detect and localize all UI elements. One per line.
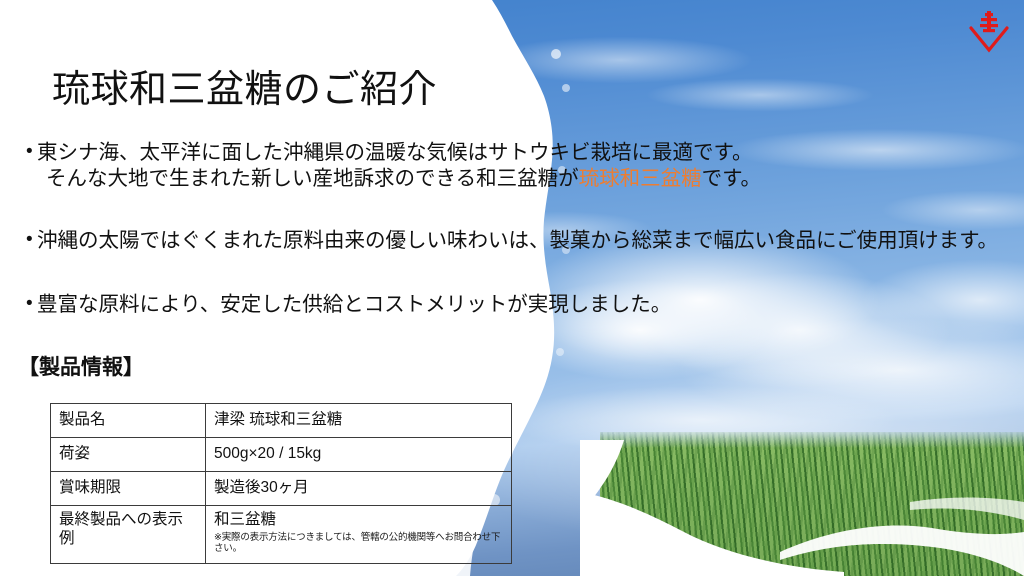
table-cell-key-product-name: 製品名 <box>51 404 206 438</box>
table-cell-key-label-example: 最終製品への表示例 <box>51 506 206 564</box>
table-cell-label-example-note: ※実際の表示方法につきましては、管轄の公的機関等へお問合わせ下さい。 <box>214 532 503 555</box>
company-logo-icon <box>968 10 1010 54</box>
bullet-line-1-1-text: 東シナ海、太平洋に面した沖縄県の温暖な気候はサトウキビ栽培に最適です。 <box>37 141 752 164</box>
table-cell-value-packaging: 500g×20 / 15kg <box>206 438 512 472</box>
page-title: 琉球和三盆糖のご紹介 <box>52 58 437 113</box>
bullet-line-1-2-post: です。 <box>702 167 761 190</box>
bullet-group-1: •東シナ海、太平洋に面した沖縄県の温暖な気候はサトウキビ栽培に最適です。 そんな… <box>26 140 761 192</box>
bullet-marker-icon: • <box>26 228 37 252</box>
bullet-line-1-2-highlight: 琉球和三盆糖 <box>579 167 702 190</box>
slide-canvas: 琉球和三盆糖のご紹介 •東シナ海、太平洋に面した沖縄県の温暖な気候はサトウキビ栽… <box>0 0 1024 576</box>
table-cell-key-label-example-text: 最終製品への表示例 <box>59 511 183 547</box>
bullet-line-3-1: •豊富な原料により、安定した供給とコストメリットが実現しました。 <box>26 292 671 318</box>
table-row: 製品名 津梁 琉球和三盆糖 <box>51 404 512 438</box>
table-cell-value-label-example: 和三盆糖 ※実際の表示方法につきましては、管轄の公的機関等へお問合わせ下さい。 <box>206 506 512 564</box>
table-row: 最終製品への表示例 和三盆糖 ※実際の表示方法につきましては、管轄の公的機関等へ… <box>51 506 512 564</box>
bullet-line-1-2-pre: そんな大地で生まれた新しい産地訴求のできる和三盆糖が <box>46 167 579 190</box>
bullet-line-3-1-text: 豊富な原料により、安定した供給とコストメリットが実現しました。 <box>37 293 671 316</box>
product-info-heading: 【製品情報】 <box>18 351 144 381</box>
bullet-line-2-1: •沖縄の太陽ではぐくまれた原料由来の優しい味わいは、製菓から総菜まで幅広い食品に… <box>26 228 998 254</box>
bullet-line-2-1-text: 沖縄の太陽ではぐくまれた原料由来の優しい味わいは、製菓から総菜まで幅広い食品にご… <box>37 229 998 252</box>
slide-content: 琉球和三盆糖のご紹介 •東シナ海、太平洋に面した沖縄県の温暖な気候はサトウキビ栽… <box>0 0 1024 576</box>
table-row: 賞味期限 製造後30ヶ月 <box>51 472 512 506</box>
table-cell-value-label-example-text: 和三盆糖 <box>214 511 276 528</box>
table-cell-value-shelf-life: 製造後30ヶ月 <box>206 472 512 506</box>
product-info-table: 製品名 津梁 琉球和三盆糖 荷姿 500g×20 / 15kg 賞味期限 製造後… <box>50 403 512 564</box>
table-row: 荷姿 500g×20 / 15kg <box>51 438 512 472</box>
bullet-line-1-1: •東シナ海、太平洋に面した沖縄県の温暖な気候はサトウキビ栽培に最適です。 <box>26 140 761 166</box>
table-cell-value-product-name: 津梁 琉球和三盆糖 <box>206 404 512 438</box>
table-cell-key-packaging: 荷姿 <box>51 438 206 472</box>
table-cell-key-shelf-life: 賞味期限 <box>51 472 206 506</box>
bullet-line-1-2: そんな大地で生まれた新しい産地訴求のできる和三盆糖が琉球和三盆糖です。 <box>26 166 761 192</box>
bullet-marker-icon: • <box>26 140 37 164</box>
bullet-group-3: •豊富な原料により、安定した供給とコストメリットが実現しました。 <box>26 292 671 318</box>
bullet-marker-icon: • <box>26 292 37 316</box>
bullet-group-2: •沖縄の太陽ではぐくまれた原料由来の優しい味わいは、製菓から総菜まで幅広い食品に… <box>26 228 998 254</box>
